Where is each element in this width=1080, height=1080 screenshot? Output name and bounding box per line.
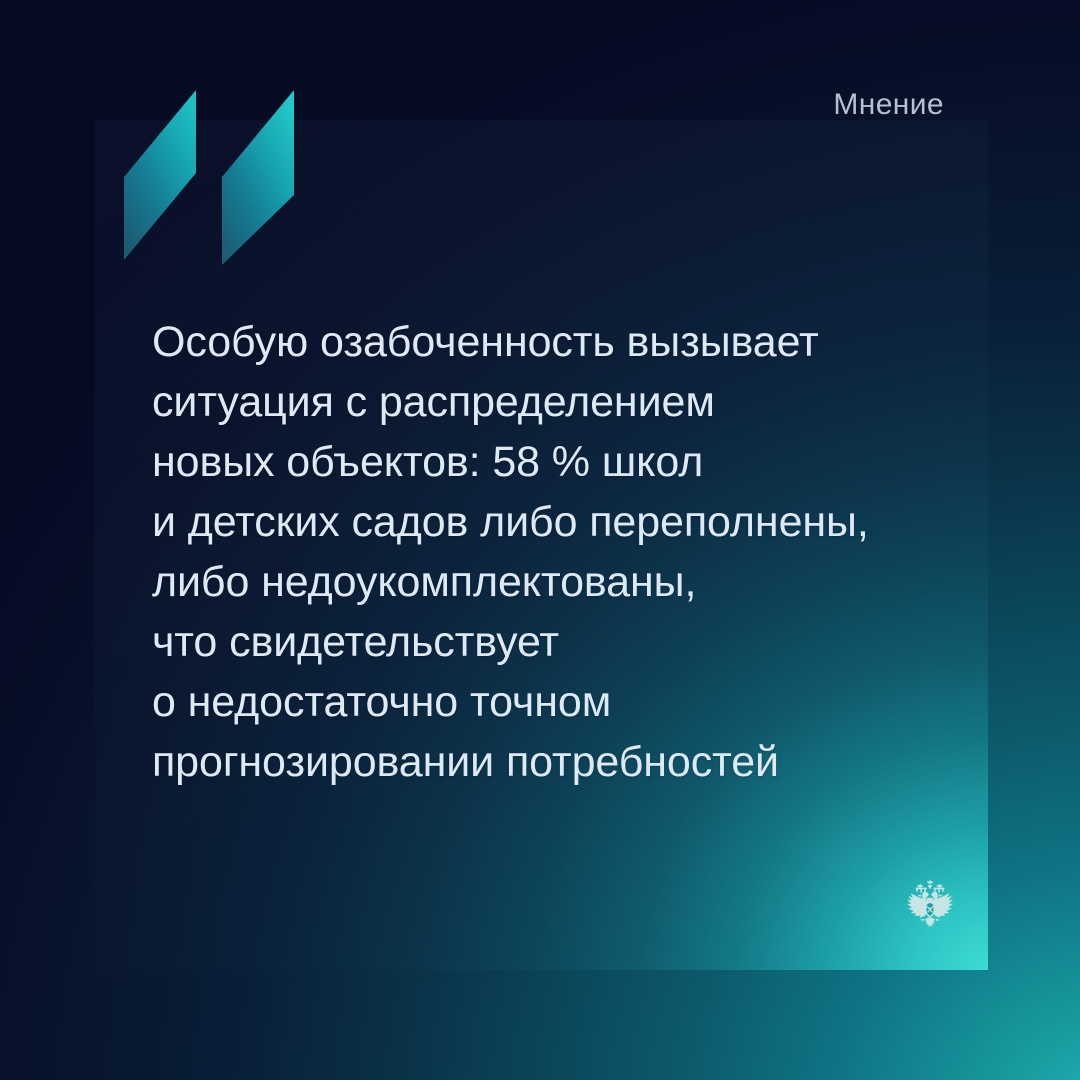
double-headed-eagle-icon [898,876,962,940]
headline-line: новых объектов: 58 % школ [152,432,1032,492]
headline-line: либо недоукомплектованы, [152,552,1032,612]
headline-line: Особую озабоченность вызывает [152,312,1032,372]
brand-logo [96,85,316,265]
headline-line: и детских садов либо переполнены, [152,492,1032,552]
opinion-quote-card: Мнение Особую озабоченность вызывает сит… [0,0,1080,1080]
headline-line: ситуация с распределением [152,372,1032,432]
section-kicker: Мнение [833,88,944,122]
headline-line: о недостаточно точном [152,672,1032,732]
headline-line: прогнозировании потребностей [152,732,1032,792]
quote-headline: Особую озабоченность вызывает ситуация с… [152,312,1032,792]
headline-line: что свидетельствует [152,612,1032,672]
